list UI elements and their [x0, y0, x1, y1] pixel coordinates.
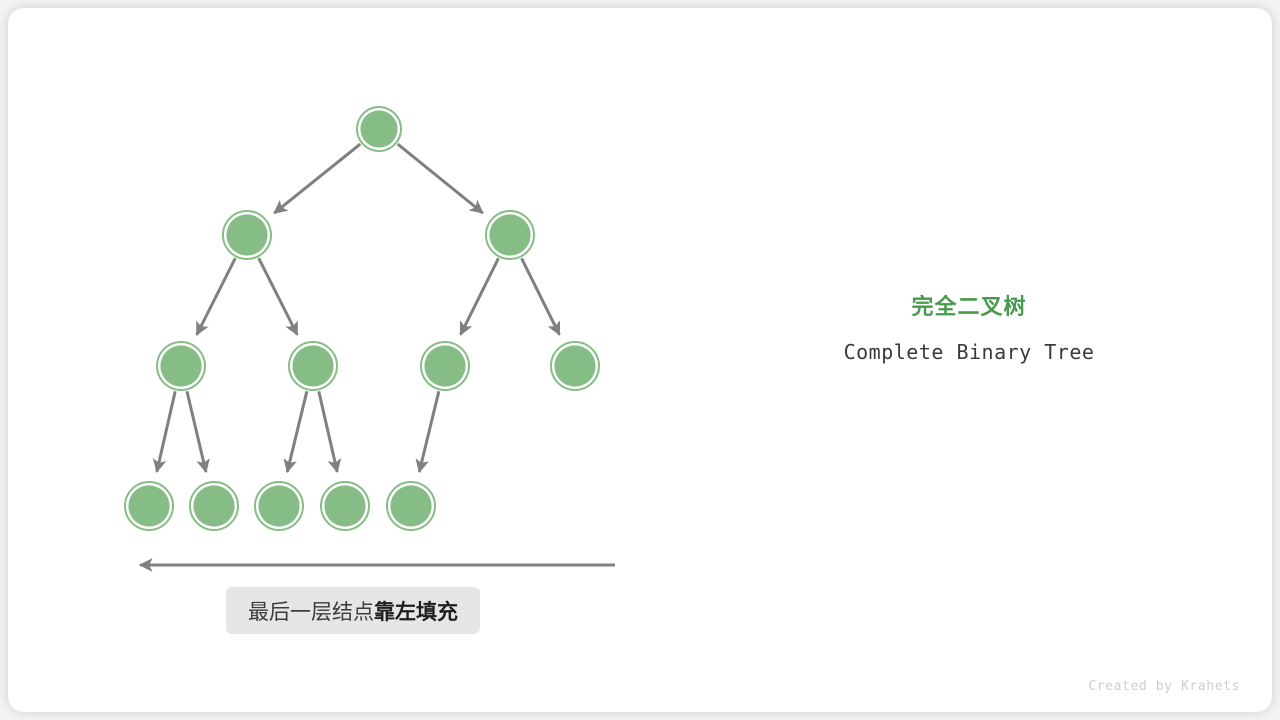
tree-edge [259, 258, 298, 335]
tree-edge [197, 258, 236, 335]
tree-edge [461, 258, 499, 334]
title-chinese: 完全二叉树 [760, 292, 1178, 322]
tree-edge [522, 258, 560, 334]
tree-node-fill [160, 345, 201, 386]
tree-node [190, 482, 238, 530]
tree-edge [319, 391, 337, 472]
tree-node [486, 211, 534, 259]
tree-node [551, 342, 599, 390]
watermark-credit: Created by Krahets [1088, 679, 1240, 694]
tree-node [421, 342, 469, 390]
tree-node-fill [390, 485, 431, 526]
tree-node-fill [226, 214, 267, 255]
tree-node-fill [258, 485, 299, 526]
tree-node [387, 482, 435, 530]
tree-edge [274, 144, 360, 213]
tree-node-fill [424, 345, 465, 386]
tree-node [255, 482, 303, 530]
tree-node-fill [193, 485, 234, 526]
tree-node [157, 342, 205, 390]
tree-node-fill [324, 485, 365, 526]
tree-node [125, 482, 173, 530]
tree-edge [419, 391, 439, 472]
tree-node-fill [554, 345, 595, 386]
annotation-text-bold: 靠左填充 [374, 596, 458, 626]
tree-node-fill [360, 110, 397, 147]
tree-node [289, 342, 337, 390]
caption-block: 完全二叉树 Complete Binary Tree [760, 292, 1178, 366]
screenshot-canvas: 完全二叉树 Complete Binary Tree 最后一层结点靠左填充 Cr… [0, 0, 1280, 720]
tree-nodes [125, 107, 599, 530]
tree-edge [157, 391, 175, 472]
annotation-pill: 最后一层结点靠左填充 [226, 587, 480, 634]
tree-node [223, 211, 271, 259]
tree-node-fill [292, 345, 333, 386]
annotation-text-normal: 最后一层结点 [248, 596, 374, 626]
tree-node [321, 482, 369, 530]
tree-edge [398, 144, 483, 213]
title-english: Complete Binary Tree [760, 338, 1178, 366]
tree-node-fill [489, 214, 530, 255]
tree-edge [287, 391, 307, 472]
tree-node-fill [128, 485, 169, 526]
tree-edges [157, 144, 560, 472]
tree-node [357, 107, 401, 151]
tree-edge [187, 391, 206, 472]
